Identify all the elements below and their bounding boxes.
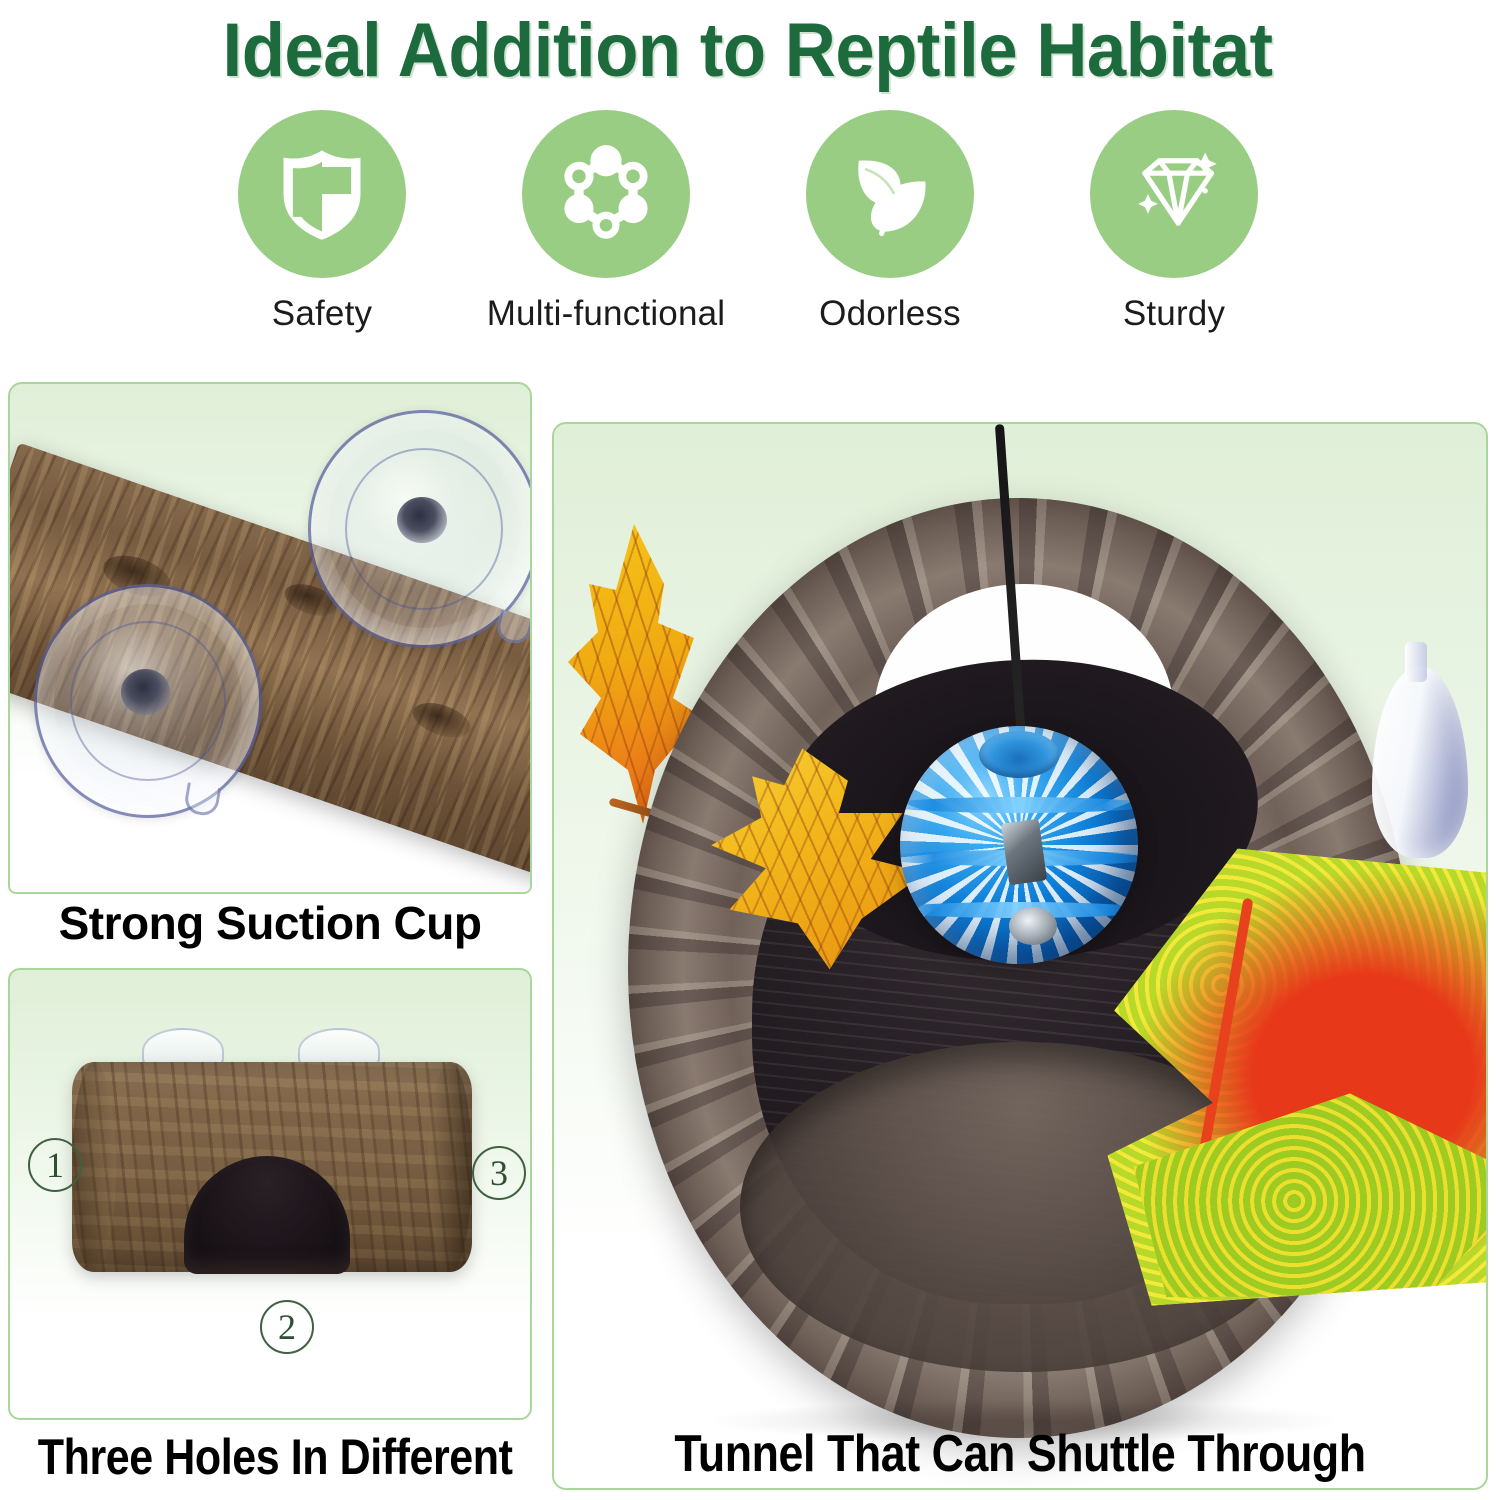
molecule-icon: [554, 142, 658, 246]
suction-cup-tab: [183, 782, 222, 817]
feature-icon-badge: [1090, 110, 1258, 278]
wood-knot: [408, 696, 474, 744]
holes-photo: 1 2 3: [10, 970, 530, 1418]
caption-strong-suction-cup: Strong Suction Cup: [8, 896, 532, 950]
ball-bell-body: [1009, 907, 1057, 945]
caption-tunnel: Tunnel That Can Shuttle Through: [618, 1424, 1423, 1484]
suction-photo: [10, 384, 530, 892]
callout-number-1: 1: [28, 1138, 82, 1192]
feature-label: Odorless: [819, 294, 961, 334]
side-suction-cup: [1372, 666, 1468, 858]
feature-item-safety: Safety: [218, 110, 426, 334]
caption-three-holes: Three Holes In Different: [38, 1428, 502, 1486]
shield-icon: [270, 142, 374, 246]
feature-icon-badge: [806, 110, 974, 278]
log-end-right: [428, 1062, 472, 1272]
suction-cup-stem: [1405, 642, 1427, 682]
page-header: Ideal Addition to Reptile Habitat: [0, 0, 1496, 96]
resin-log-hide: [72, 1062, 472, 1272]
feature-row: Safety Multi-functional: [0, 96, 1496, 356]
feature-label: Multi-functional: [487, 294, 726, 334]
panel-tunnel: [552, 422, 1488, 1490]
ball-bell-clapper: [1001, 819, 1047, 886]
callout-number-2: 2: [260, 1300, 314, 1354]
page-title: Ideal Addition to Reptile Habitat: [223, 15, 1273, 87]
ball-band: [900, 797, 1138, 813]
ball-cap: [979, 731, 1060, 779]
suction-cup-upper: [308, 410, 530, 648]
feature-icon-badge: [238, 110, 406, 278]
callout-number-3: 3: [472, 1146, 526, 1200]
panel-three-holes: 1 2 3: [8, 968, 532, 1420]
feature-item-multi-functional: Multi-functional: [502, 110, 710, 334]
feature-item-sturdy: Sturdy: [1070, 110, 1278, 334]
diamond-icon: [1122, 142, 1226, 246]
blue-lattice-bell-ball: [900, 726, 1138, 964]
leaf-icon: [838, 142, 942, 246]
feature-item-odorless: Odorless: [786, 110, 994, 334]
feature-icon-badge: [522, 110, 690, 278]
feature-label: Safety: [272, 294, 372, 334]
feature-label: Sturdy: [1123, 294, 1225, 334]
suction-cup-lower: [34, 584, 262, 818]
tunnel-photo: [554, 424, 1486, 1488]
panel-strong-suction-cup: [8, 382, 532, 894]
log-entrance-hole: [184, 1156, 350, 1274]
